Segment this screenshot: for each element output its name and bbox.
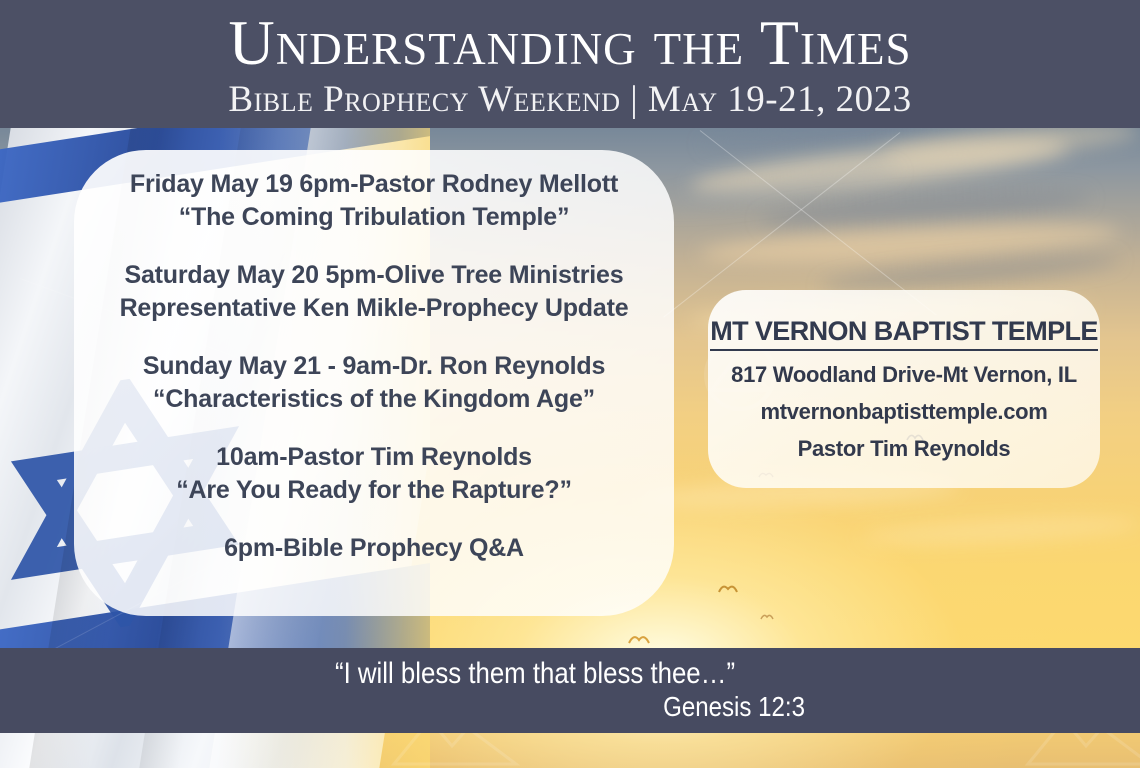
schedule-entry: 10am-Pastor Tim Reynolds “Are You Ready … [176, 441, 572, 506]
schedule-topic: Representative Ken Mikle-Prophecy Update [120, 292, 629, 325]
schedule-speaker: Sunday May 21 - 9am-Dr. Ron Reynolds [143, 350, 605, 383]
schedule-speaker: Saturday May 20 5pm-Olive Tree Ministrie… [120, 259, 629, 292]
scripture-banner: “I will bless them that bless thee…” Gen… [0, 648, 1140, 733]
bird-icon [628, 632, 650, 645]
schedule-speaker: 10am-Pastor Tim Reynolds [176, 441, 572, 474]
poster-canvas: Understanding the Times Bible Prophecy W… [0, 0, 1140, 768]
venue-address: 817 Woodland Drive-Mt Vernon, IL [731, 362, 1077, 388]
schedule-entry: Sunday May 21 - 9am-Dr. Ron Reynolds “Ch… [143, 350, 605, 415]
schedule-card: Friday May 19 6pm-Pastor Rodney Mellott … [74, 150, 674, 616]
schedule-entry: 6pm-Bible Prophecy Q&A [224, 532, 524, 565]
venue-pastor: Pastor Tim Reynolds [798, 436, 1011, 462]
schedule-topic: “The Coming Tribulation Temple” [130, 201, 618, 234]
venue-card: MT VERNON BAPTIST TEMPLE 817 Woodland Dr… [708, 290, 1100, 488]
bird-icon [760, 612, 774, 621]
venue-website[interactable]: mtvernonbaptisttemple.com [760, 399, 1047, 425]
page-subtitle: Bible Prophecy Weekend | May 19-21, 2023 [228, 81, 911, 118]
scripture-quote: “I will bless them that bless thee…” [335, 658, 739, 690]
scripture-inner: “I will bless them that bless thee…” Gen… [335, 658, 805, 722]
venue-name: MT VERNON BAPTIST TEMPLE [710, 316, 1098, 351]
schedule-topic: “Characteristics of the Kingdom Age” [143, 383, 605, 416]
page-title: Understanding the Times [228, 11, 911, 75]
scripture-reference: Genesis 12:3 [401, 692, 805, 723]
schedule-topic: “Are You Ready for the Rapture?” [176, 474, 572, 507]
cloud [860, 513, 1140, 550]
schedule-entry: Saturday May 20 5pm-Olive Tree Ministrie… [120, 259, 629, 324]
header-banner: Understanding the Times Bible Prophecy W… [0, 0, 1140, 128]
schedule-speaker: 6pm-Bible Prophecy Q&A [224, 532, 524, 565]
bird-icon [718, 582, 738, 594]
schedule-speaker: Friday May 19 6pm-Pastor Rodney Mellott [130, 168, 618, 201]
schedule-entry: Friday May 19 6pm-Pastor Rodney Mellott … [130, 168, 618, 233]
